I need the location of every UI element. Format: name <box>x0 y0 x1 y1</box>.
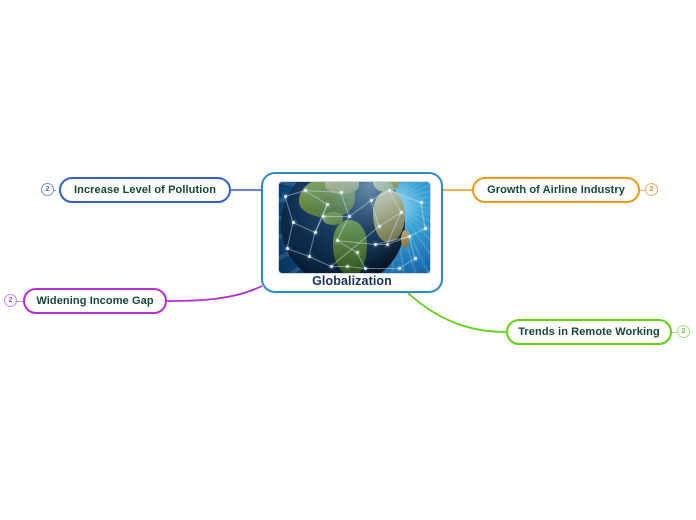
branch-label-income-gap: Widening Income Gap <box>36 295 153 307</box>
branch-label-airline: Growth of Airline Industry <box>487 184 625 196</box>
network-node-dot <box>374 243 377 246</box>
connector-income <box>167 286 262 301</box>
network-edge <box>323 216 349 217</box>
network-node-dot <box>314 231 317 234</box>
network-node-dot <box>340 191 343 194</box>
network-node-dot <box>414 257 417 260</box>
network-node-dot <box>378 225 381 228</box>
network-edge <box>409 236 416 258</box>
network-edge <box>349 200 372 217</box>
network-edge <box>285 196 294 222</box>
network-node-dot <box>326 203 329 206</box>
network-node-dot <box>346 265 349 268</box>
central-node[interactable]: Globalization <box>261 172 443 293</box>
network-node-dot <box>330 265 333 268</box>
network-node-dot <box>420 201 423 204</box>
network-edge <box>305 190 328 205</box>
network-edge <box>331 266 347 267</box>
network-node-dot <box>364 267 367 270</box>
network-node-dot <box>370 199 373 202</box>
network-edge <box>309 232 316 256</box>
network-edge <box>409 228 425 237</box>
child-count-badge-income-gap[interactable]: 2 <box>4 294 17 307</box>
child-count-badge-airline[interactable]: 2 <box>645 183 658 196</box>
network-node-dot <box>308 255 311 258</box>
branch-node-remote-working[interactable]: Trends in Remote Working <box>506 319 672 345</box>
network-mesh-overlay <box>279 182 430 273</box>
network-node-dot <box>286 247 289 250</box>
network-edge <box>375 236 409 245</box>
child-count-badge-remote-working[interactable]: 2 <box>677 325 690 338</box>
branch-label-remote-working: Trends in Remote Working <box>518 326 660 338</box>
network-edge <box>287 248 309 257</box>
branch-label-pollution: Increase Level of Pollution <box>74 184 216 196</box>
network-node-dot <box>284 195 287 198</box>
network-edge <box>293 222 315 233</box>
mindmap-canvas: Globalization Increase Level of Pollutio… <box>0 0 696 520</box>
network-node-dot <box>398 267 401 270</box>
network-edge <box>371 190 389 201</box>
network-node-dot <box>292 221 295 224</box>
network-node-dot <box>408 235 411 238</box>
network-edge <box>337 216 350 240</box>
network-edge <box>331 226 380 267</box>
network-node-dot <box>388 189 391 192</box>
network-edge <box>309 256 331 267</box>
network-node-dot <box>400 211 403 214</box>
branch-node-income-gap[interactable]: Widening Income Gap <box>23 288 167 314</box>
network-edge <box>341 192 350 216</box>
network-node-dot <box>386 243 389 246</box>
child-count-badge-pollution[interactable]: 2 <box>41 183 54 196</box>
network-edge <box>287 222 294 248</box>
network-node-dot <box>322 215 325 218</box>
network-edge <box>421 202 426 228</box>
network-edge <box>371 200 380 226</box>
network-node-dot <box>348 215 351 218</box>
network-edge <box>347 266 365 269</box>
branch-node-airline[interactable]: Growth of Airline Industry <box>472 177 640 203</box>
network-edge <box>399 258 416 269</box>
globe-network-image <box>278 181 431 274</box>
network-node-dot <box>424 227 427 230</box>
central-node-label: Globalization <box>263 274 441 288</box>
network-edge <box>365 268 399 269</box>
network-node-dot <box>336 239 339 242</box>
network-edge <box>285 190 305 197</box>
branch-node-pollution[interactable]: Increase Level of Pollution <box>59 177 231 203</box>
network-node-dot <box>356 251 359 254</box>
connector-remote <box>408 293 506 332</box>
network-node-dot <box>304 189 307 192</box>
